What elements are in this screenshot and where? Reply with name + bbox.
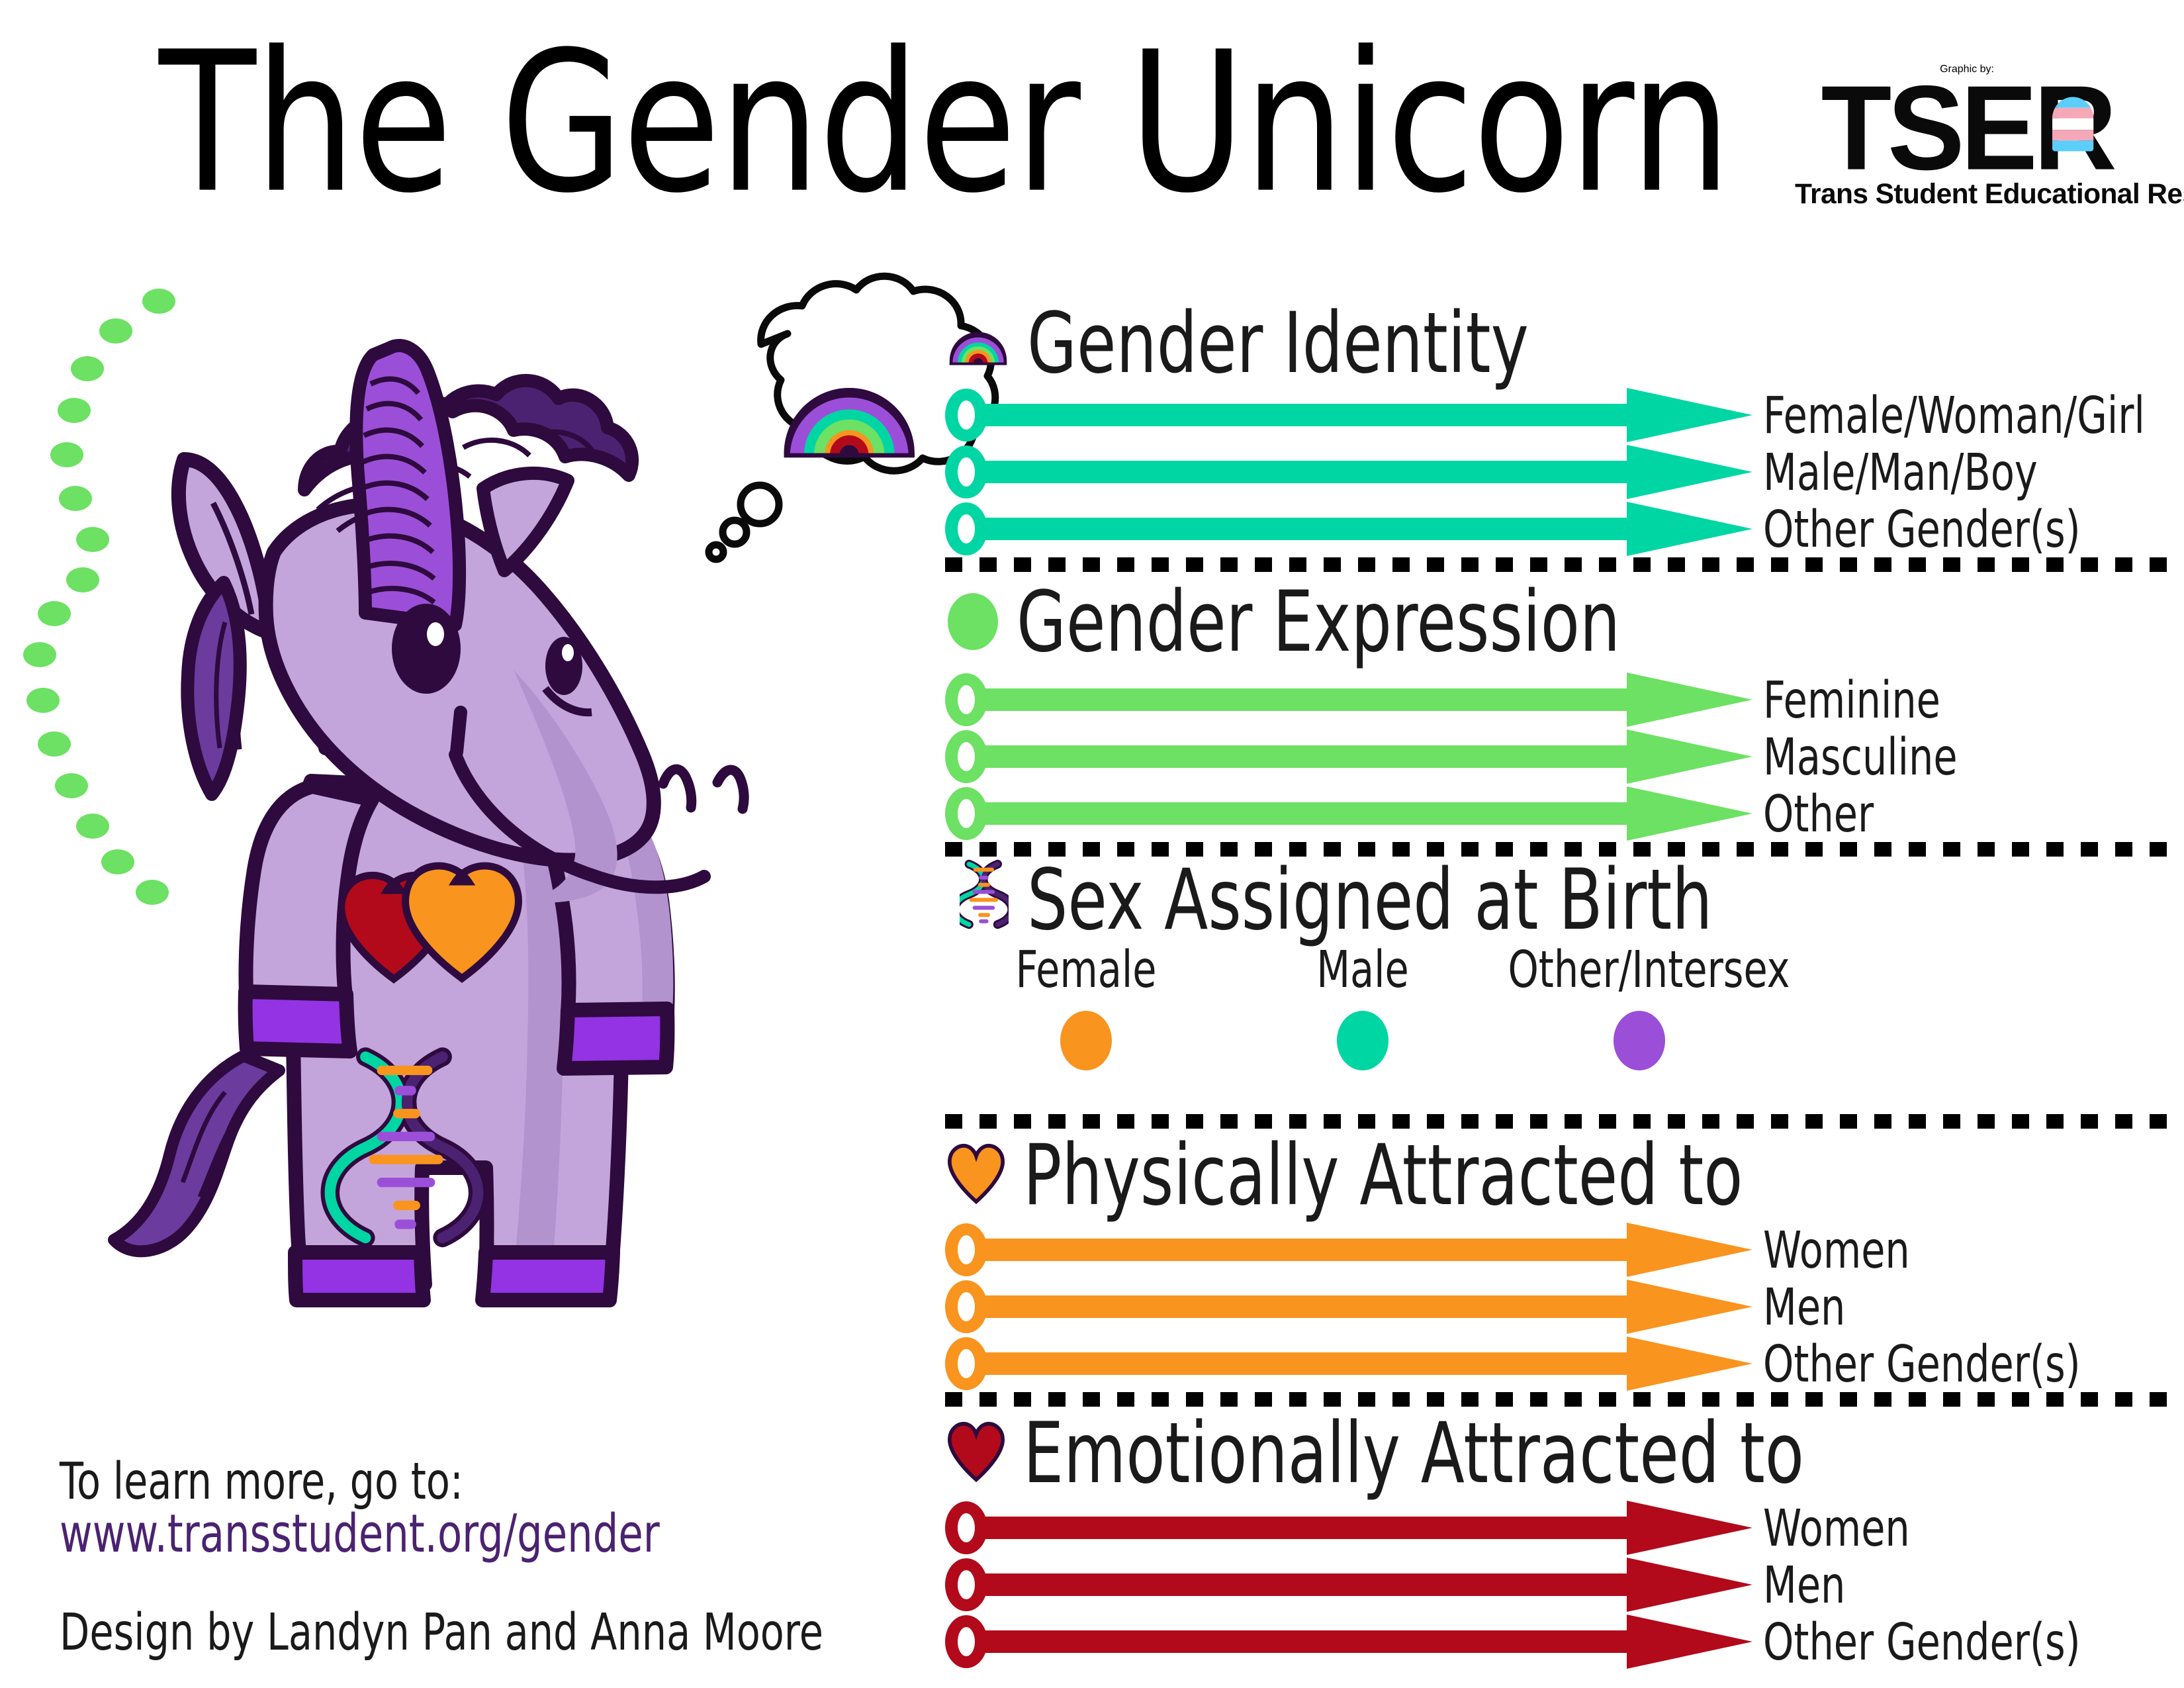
- category-dot-purple[interactable]: [1614, 1011, 1665, 1070]
- page-title: The Gender Unicorn: [159, 26, 1730, 220]
- rainbow-icon: [948, 318, 1009, 369]
- spectrum-row[interactable]: Female/Woman/Girl: [945, 387, 2169, 444]
- spectrum-option-label: Male/Man/Boy: [1763, 442, 2038, 502]
- spectrum-rows: Feminine Masculine: [945, 671, 2169, 842]
- category-label: Other/Intersex: [1508, 939, 1770, 1000]
- spectrum-sections: Gender Identity Female/Woman/Girl: [945, 299, 2169, 1670]
- tser-wordmark: TSER: [1821, 71, 2113, 185]
- gender-unicorn-illustration: [26, 291, 953, 1403]
- red-heart-icon: [948, 1421, 1005, 1485]
- spectrum-arrow[interactable]: [945, 671, 1754, 728]
- transstudent-url-link[interactable]: www.transstudent.org/gender: [60, 1504, 660, 1565]
- spectrum-arrow[interactable]: [945, 1613, 1754, 1670]
- spectrum-option-label: Other Gender(s): [1763, 1612, 2081, 1672]
- spectrum-option-label: Feminine: [1763, 670, 1940, 730]
- spectrum-row[interactable]: Feminine: [945, 671, 2169, 728]
- spectrum-row[interactable]: Masculine: [945, 728, 2169, 785]
- spectrum-option-label: Men: [1763, 1277, 1845, 1337]
- spectrum-arrow[interactable]: [945, 444, 1754, 500]
- spectrum-arrow[interactable]: [945, 1278, 1754, 1335]
- green-dot-arc: [23, 289, 175, 905]
- spectrum-row[interactable]: Men: [945, 1278, 2169, 1335]
- spectrum-rows: Female/Woman/Girl Male/Man/Boy: [945, 387, 2169, 557]
- unicorn-figure: [114, 346, 744, 1300]
- spectrum-row[interactable]: Women: [945, 1221, 2169, 1278]
- spectrum-option-label: Women: [1763, 1498, 1910, 1558]
- spectrum-option-label: Female/Woman/Girl: [1763, 385, 2145, 445]
- spectrum-option-label: Men: [1763, 1555, 1845, 1615]
- spectrum-option-label: Other: [1763, 784, 1874, 844]
- spectrum-row[interactable]: Women: [945, 1499, 2169, 1556]
- section-title: Emotionally Attracted to: [1023, 1404, 1804, 1503]
- spectrum-row[interactable]: Other Gender(s): [945, 1335, 2169, 1392]
- spectrum-option-label: Women: [1763, 1220, 1910, 1280]
- section-title: Gender Identity: [1027, 294, 1529, 393]
- spectrum-row[interactable]: Other Gender(s): [945, 1613, 2169, 1670]
- spectrum-arrow[interactable]: [945, 1335, 1754, 1392]
- section-emotionally-attracted-to: Emotionally Attracted to Women: [945, 1407, 2169, 1670]
- spectrum-arrow[interactable]: [945, 500, 1754, 557]
- section-title: Physically Attracted to: [1023, 1126, 1743, 1225]
- spectrum-row[interactable]: Other Gender(s): [945, 500, 2169, 557]
- category-male[interactable]: Male: [1224, 945, 1501, 1070]
- spectrum-rows: Women Men: [945, 1221, 2169, 1392]
- spectrum-arrow[interactable]: [945, 1499, 1754, 1556]
- category-dot-teal[interactable]: [1337, 1011, 1388, 1070]
- spectrum-arrow[interactable]: [945, 785, 1754, 842]
- spectrum-row[interactable]: Men: [945, 1556, 2169, 1613]
- category-label: Male: [1231, 939, 1494, 1000]
- orange-heart-icon: [948, 1143, 1005, 1207]
- spectrum-rows: Women Men: [945, 1499, 2169, 1670]
- spectrum-arrow[interactable]: [945, 1221, 1754, 1278]
- section-physically-attracted-to: Physically Attracted to Women: [945, 1129, 2169, 1392]
- spectrum-arrow[interactable]: [945, 728, 1754, 785]
- spectrum-row[interactable]: Male/Man/Boy: [945, 444, 2169, 500]
- category-label: Female: [954, 939, 1217, 1000]
- section-title: Gender Expression: [1017, 573, 1620, 671]
- green-circle-icon: [948, 593, 998, 650]
- spectrum-arrow[interactable]: [945, 387, 1754, 444]
- learn-more-label: To learn more, go to:: [60, 1451, 463, 1511]
- section-divider: [945, 557, 2169, 572]
- sex-assigned-categories: Female Male Other/Intersex: [945, 945, 2169, 1070]
- section-gender-expression: Gender Expression Feminine: [945, 572, 2169, 842]
- design-credit: Design by Landyn Pan and Anna Moore: [60, 1602, 823, 1662]
- dna-helix-icon: [960, 859, 1009, 941]
- section-sex-assigned-at-birth: Sex Assigned at Birth Female Male Other/…: [945, 857, 2169, 1070]
- spectrum-row[interactable]: Other: [945, 785, 2169, 842]
- spectrum-option-label: Masculine: [1763, 727, 1958, 787]
- spectrum-option-label: Other Gender(s): [1763, 499, 2081, 559]
- category-other-intersex[interactable]: Other/Intersex: [1501, 945, 1778, 1070]
- category-dot-orange[interactable]: [1060, 1011, 1112, 1070]
- section-gender-identity: Gender Identity Female/Woman/Girl: [945, 299, 2169, 557]
- spectrum-arrow[interactable]: [945, 1556, 1754, 1613]
- category-female[interactable]: Female: [948, 945, 1224, 1070]
- spectrum-option-label: Other Gender(s): [1763, 1334, 2081, 1394]
- tser-acronym-text: TSER: [1821, 60, 2113, 195]
- section-title: Sex Assigned at Birth: [1027, 851, 1712, 949]
- tser-credit-block: Graphic by: TSER Trans Student Education…: [1795, 64, 2139, 211]
